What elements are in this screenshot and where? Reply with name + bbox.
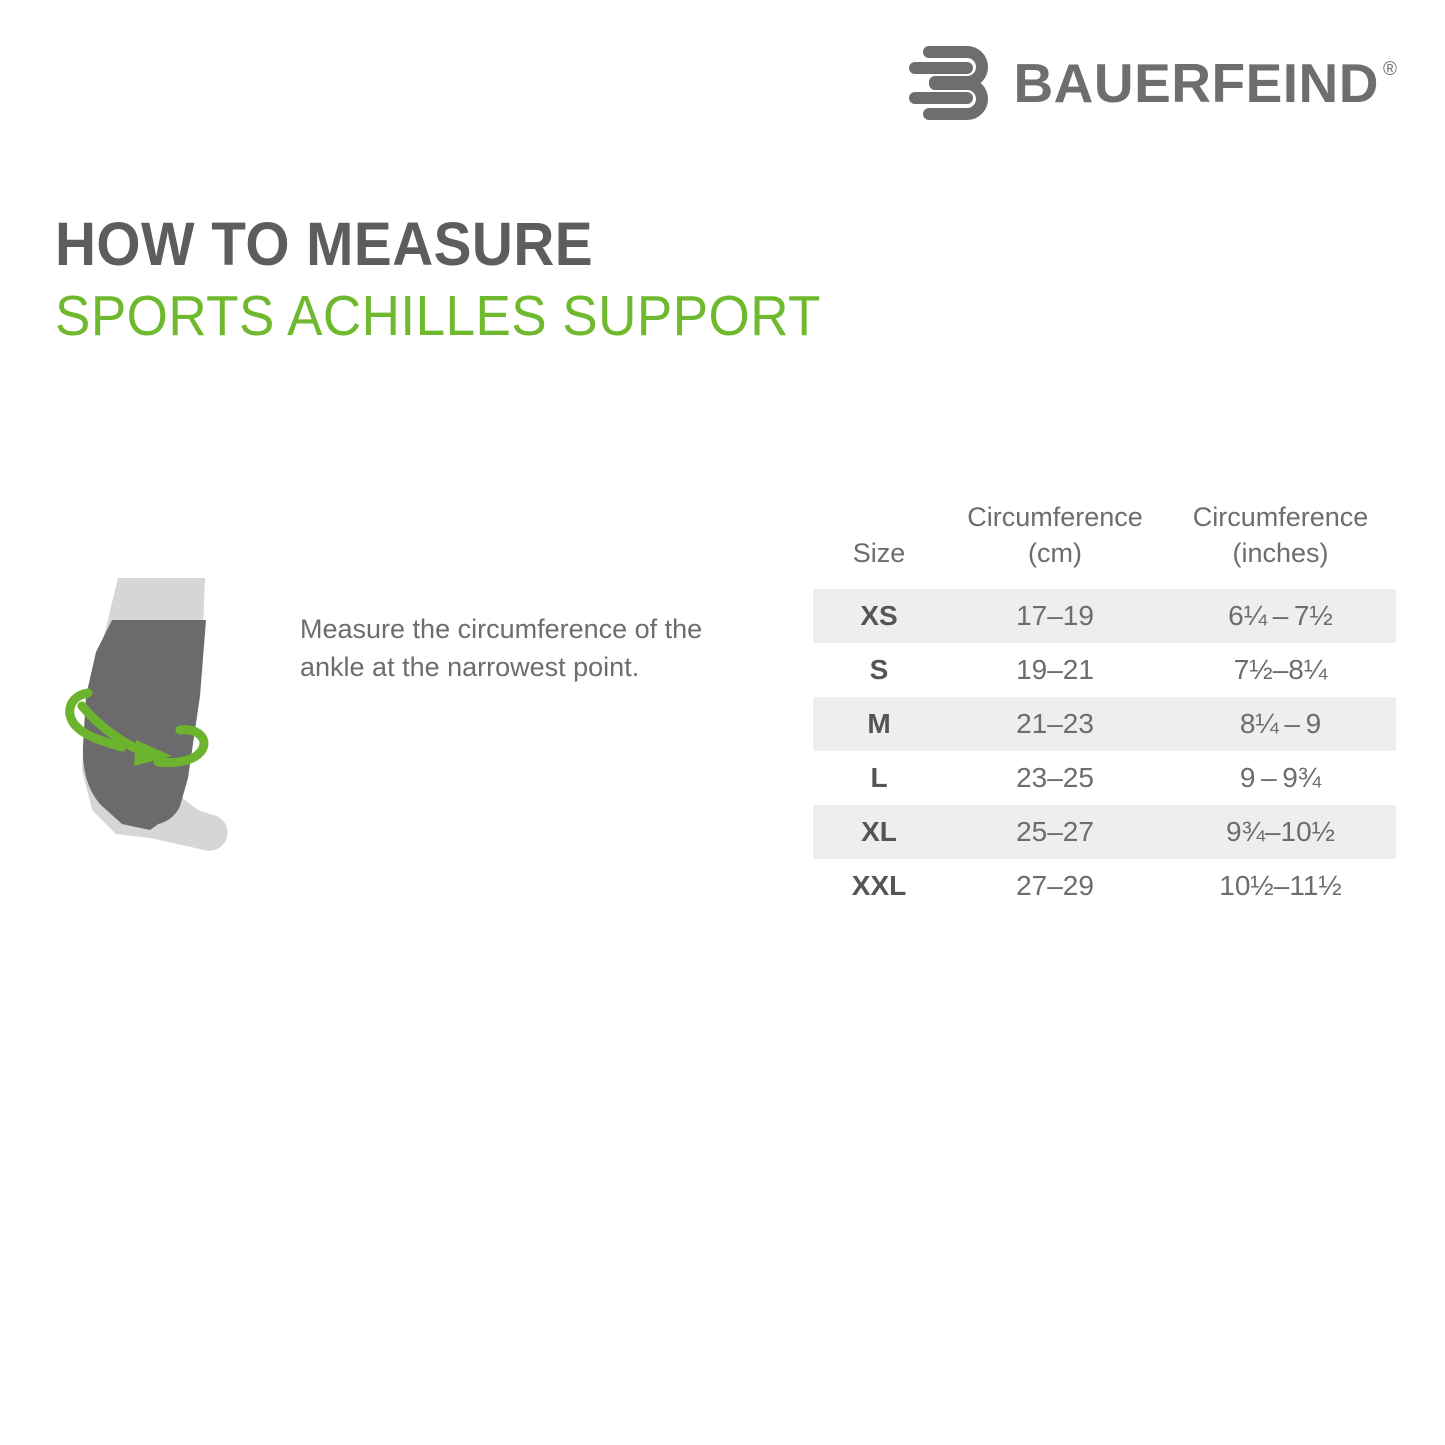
column-header-size: Size [813,500,945,589]
table-row: XS 17–19 6¼ – 7½ [813,589,1396,643]
size-chart-page: BAUERFEIND ® HOW TO MEASURE SPORTS ACHIL… [0,0,1445,1445]
cell-circumference-cm: 23–25 [945,751,1165,805]
cell-circumference-inches: 6¼ – 7½ [1165,589,1396,643]
cell-circumference-inches: 9 – 9¾ [1165,751,1396,805]
column-header-circumference-cm: Circumference (cm) [945,500,1165,589]
cell-size: L [813,751,945,805]
page-title: HOW TO MEASURE [55,212,821,278]
cell-circumference-inches: 8¼ – 9 [1165,697,1396,751]
cell-circumference-inches: 9¾–10½ [1165,805,1396,859]
table-header-row: Size Circumference (cm) Circumference (i… [813,500,1396,589]
column-header-cm-line1: Circumference [967,502,1143,532]
table-header: Size Circumference (cm) Circumference (i… [813,500,1396,589]
table-row: XL 25–27 9¾–10½ [813,805,1396,859]
size-chart-table: Size Circumference (cm) Circumference (i… [813,500,1396,913]
cell-circumference-cm: 19–21 [945,643,1165,697]
page-subtitle: SPORTS ACHILLES SUPPORT [55,286,821,348]
brand-wordmark: BAUERFEIND ® [1013,56,1397,111]
brand-name: BAUERFEIND [1013,56,1379,111]
table-row: M 21–23 8¼ – 9 [813,697,1396,751]
page-heading-block: HOW TO MEASURE SPORTS ACHILLES SUPPORT [55,212,879,347]
table-body: XS 17–19 6¼ – 7½ S 19–21 7½–8¼ M 21–23 8… [813,589,1396,913]
measurement-instruction: Measure the circumference of the ankle a… [300,610,730,687]
table-row: XXL 27–29 10½–11½ [813,859,1396,913]
table-row: S 19–21 7½–8¼ [813,643,1396,697]
cell-circumference-cm: 21–23 [945,697,1165,751]
cell-circumference-inches: 7½–8¼ [1165,643,1396,697]
cell-circumference-cm: 25–27 [945,805,1165,859]
table-row: L 23–25 9 – 9¾ [813,751,1396,805]
cell-size: XL [813,805,945,859]
registered-trademark-icon: ® [1383,60,1397,79]
column-header-cm-line2: (cm) [945,536,1165,572]
column-header-circumference-inches: Circumference (inches) [1165,500,1396,589]
cell-circumference-cm: 27–29 [945,859,1165,913]
bauerfeind-b-mark-icon [909,42,995,124]
column-header-size-line1: Size [853,538,906,568]
cell-size: S [813,643,945,697]
ankle-measurement-illustration [30,548,260,893]
column-header-inches-line2: (inches) [1165,536,1396,572]
cell-circumference-cm: 17–19 [945,589,1165,643]
cell-circumference-inches: 10½–11½ [1165,859,1396,913]
cell-size: XXL [813,859,945,913]
brand-logo: BAUERFEIND ® [909,42,1397,124]
cell-size: M [813,697,945,751]
column-header-inches-line1: Circumference [1193,502,1369,532]
cell-size: XS [813,589,945,643]
